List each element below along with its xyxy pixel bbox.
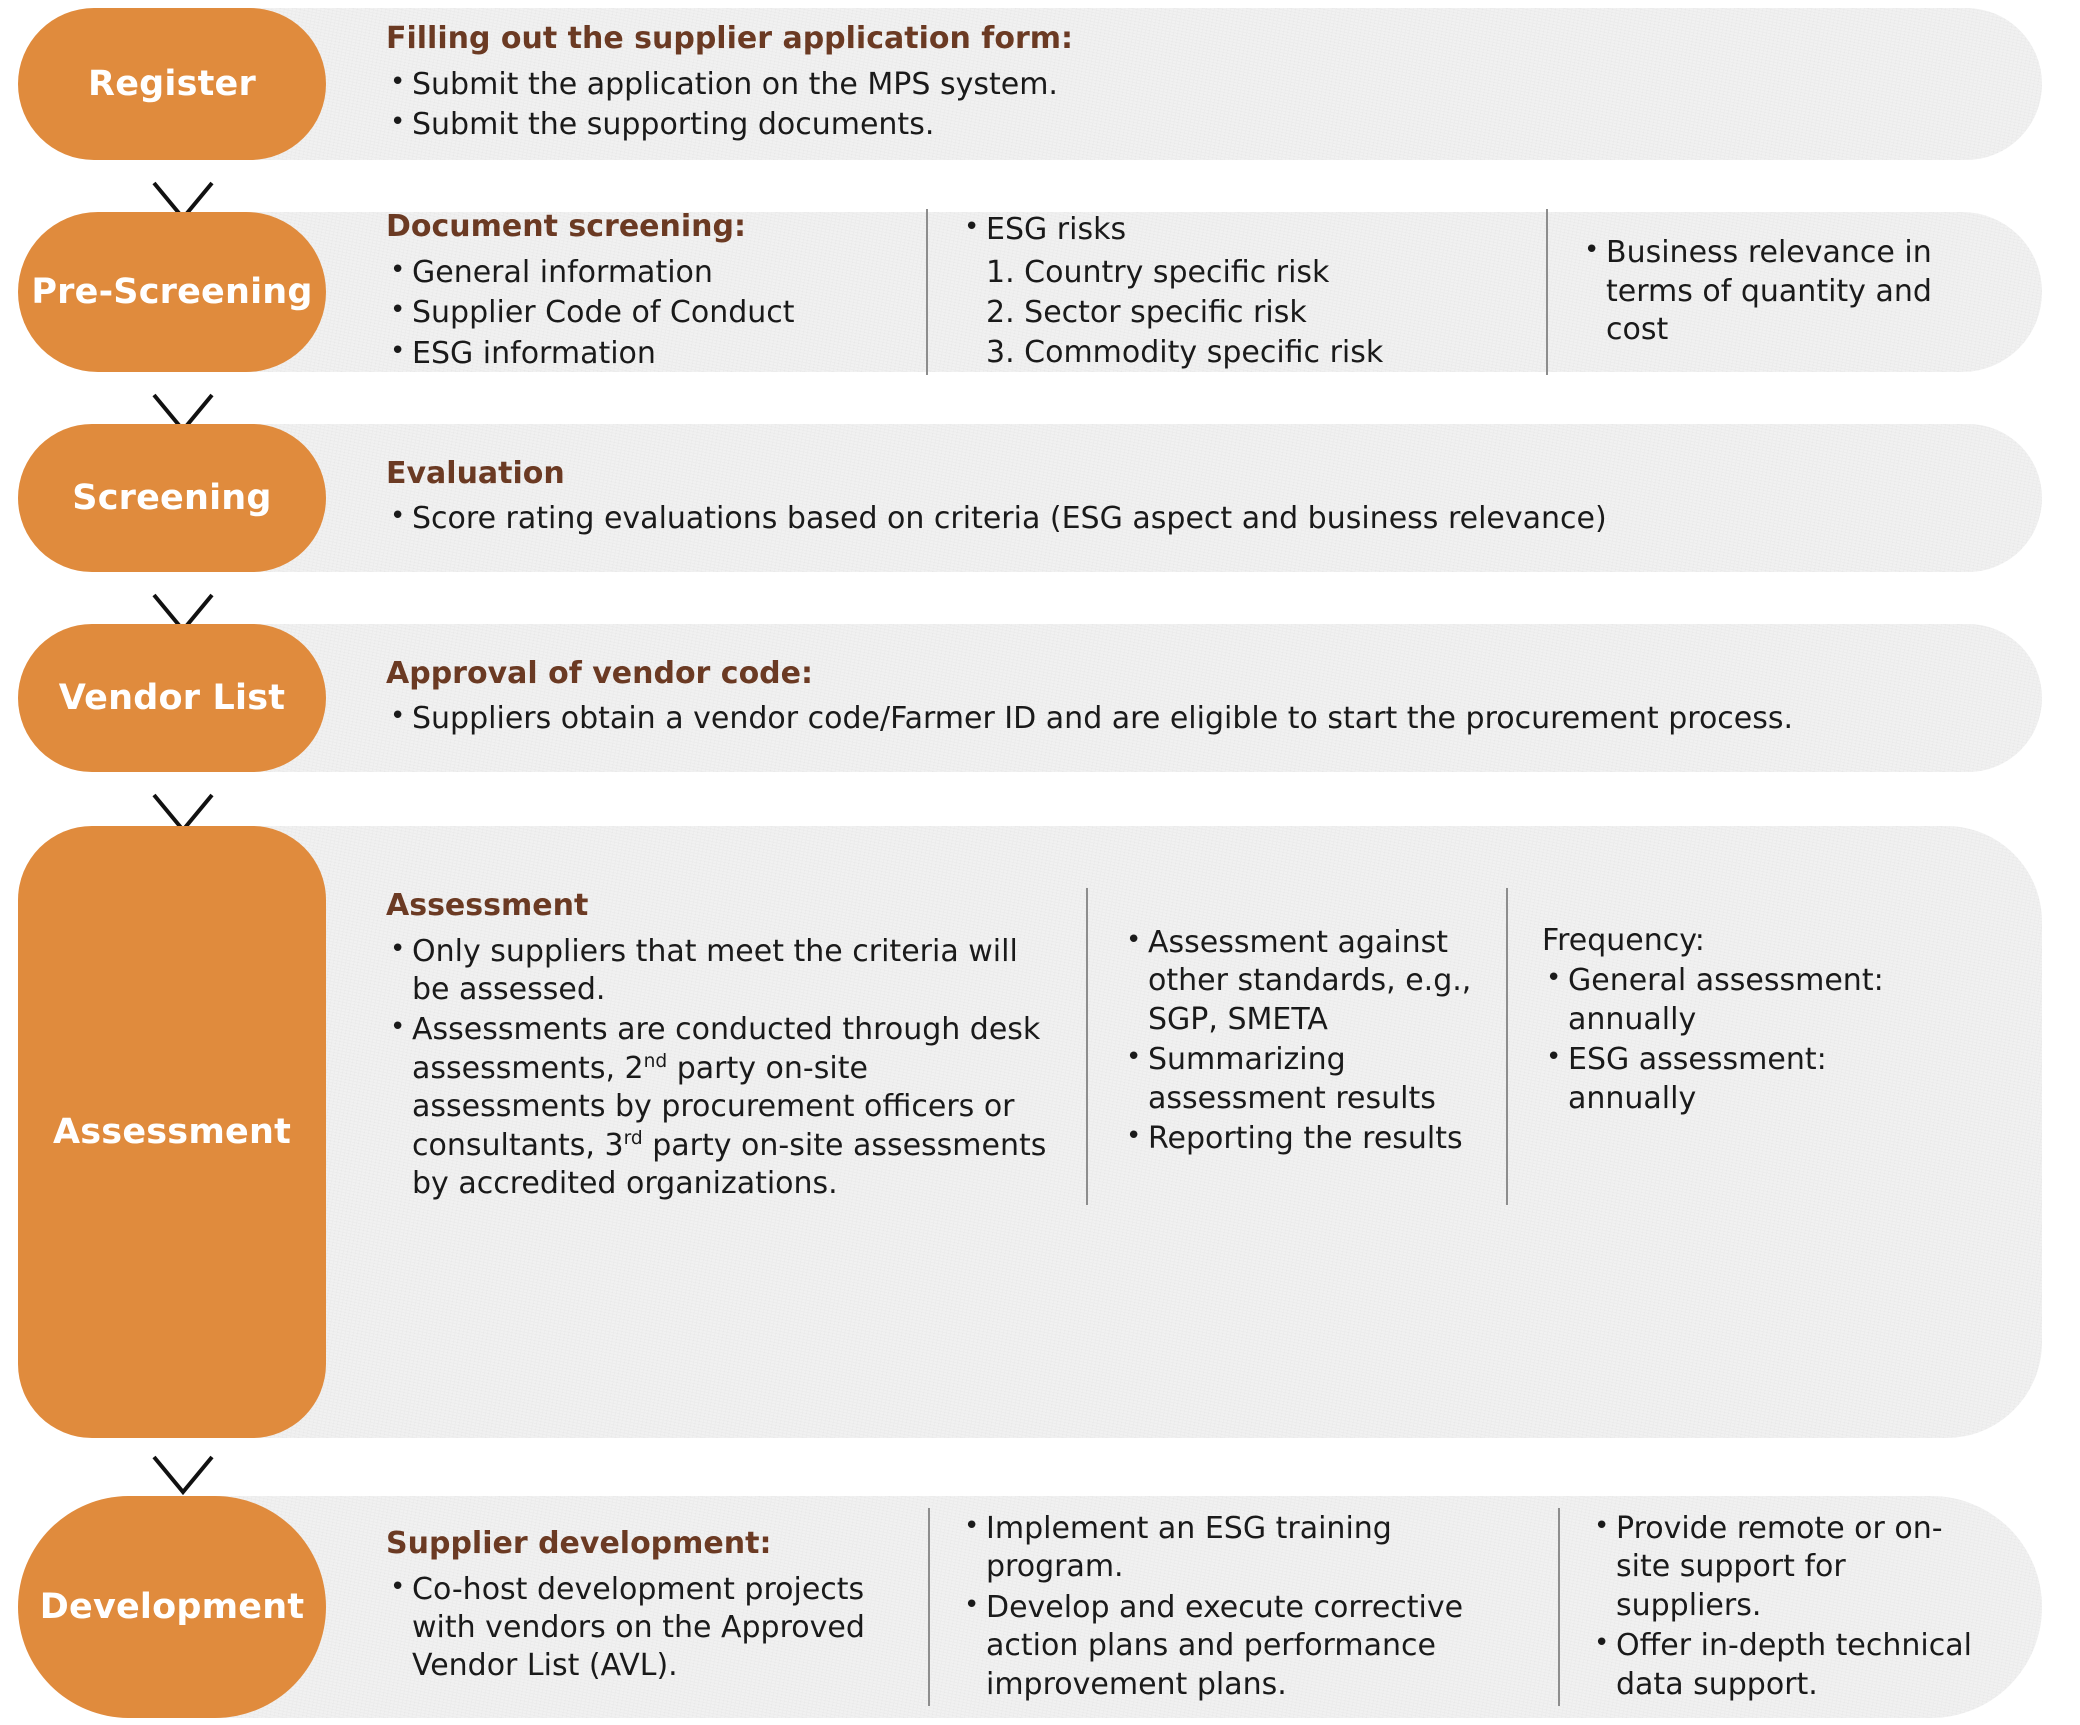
flow-step-development: Development Supplier development: Co-hos…: [0, 1496, 2080, 1718]
list-item: ESG information: [386, 335, 902, 373]
content-column: Document screening: General information …: [386, 209, 926, 375]
list-item: Provide remote or on-site support for su…: [1590, 1510, 1978, 1625]
step-pill-development[interactable]: Development: [18, 1496, 326, 1718]
bullet-list: Submit the application on the MPS system…: [386, 64, 2000, 147]
step-pill-assessment[interactable]: Assessment: [18, 826, 326, 1438]
bullet-list: Suppliers obtain a vendor code/Farmer ID…: [386, 698, 2000, 740]
list-item: Reporting the results: [1122, 1120, 1484, 1158]
step-content-development: Supplier development: Co-host developmen…: [386, 1496, 2020, 1718]
step-pill-register[interactable]: Register: [18, 8, 326, 160]
list-item: Offer in-depth technical data support.: [1590, 1627, 1978, 1704]
step-content-register: Filling out the supplier application for…: [386, 8, 2020, 160]
list-item: ESG assessment: annually: [1542, 1041, 1906, 1118]
step-pill-pre-screening[interactable]: Pre-Screening: [18, 212, 326, 372]
step-label: Register: [88, 65, 256, 104]
step-label: Vendor List: [59, 679, 285, 718]
content-column: Assessment against other standards, e.g.…: [1086, 888, 1506, 1205]
content-column: Business relevance in terms of quantity …: [1546, 209, 1986, 375]
list-item: Only suppliers that meet the criteria wi…: [386, 933, 1060, 1010]
column-heading: Approval of vendor code:: [386, 656, 2000, 693]
content-column: Assessment Only suppliers that meet the …: [386, 888, 1086, 1205]
list-item: Co-host development projects with vendor…: [386, 1571, 904, 1686]
flow-step-screening: Screening Evaluation Score rating evalua…: [0, 424, 2080, 572]
supplier-process-flow-diagram: Register Filling out the supplier applic…: [0, 0, 2080, 1725]
list-item: Develop and execute corrective action pl…: [960, 1589, 1536, 1704]
bullet-list: Assessment against other standards, e.g.…: [1122, 922, 1484, 1160]
list-item: Suppliers obtain a vendor code/Farmer ID…: [386, 700, 2000, 738]
bullet-list: General information Supplier Code of Con…: [386, 252, 902, 375]
numbered-list: 1. Country specific risk 2. Sector speci…: [960, 252, 1526, 375]
flow-step-assessment: Assessment Assessment Only suppliers tha…: [0, 826, 2080, 1438]
content-column: ESG risks 1. Country specific risk 2. Se…: [926, 209, 1546, 375]
step-content-assessment: Assessment Only suppliers that meet the …: [386, 826, 2020, 1438]
bullet-list: Implement an ESG training program. Devel…: [960, 1508, 1536, 1706]
column-heading: Document screening:: [386, 209, 902, 246]
list-item: Submit the supporting documents.: [386, 106, 2000, 144]
list-item: General information: [386, 254, 902, 292]
column-subheading: Frequency:: [1542, 922, 1906, 960]
list-item: Supplier Code of Conduct: [386, 294, 902, 332]
flow-step-pre-screening: Pre-Screening Document screening: Genera…: [0, 212, 2080, 372]
step-label: Development: [40, 1588, 305, 1627]
list-item: ESG risks: [960, 211, 1526, 249]
list-item: 1. Country specific risk: [986, 254, 1526, 292]
step-pill-vendor-list[interactable]: Vendor List: [18, 624, 326, 772]
chevron-down-icon-5: [150, 1452, 216, 1498]
flow-step-vendor-list: Vendor List Approval of vendor code: Sup…: [0, 624, 2080, 772]
list-item: 3. Commodity specific risk: [986, 334, 1526, 372]
list-item: General assessment: annually: [1542, 962, 1906, 1039]
list-item: Score rating evaluations based on criter…: [386, 500, 2000, 538]
step-content-screening: Evaluation Score rating evaluations base…: [386, 424, 2020, 572]
list-item: Submit the application on the MPS system…: [386, 66, 2000, 104]
list-item: Assessment against other standards, e.g.…: [1122, 924, 1484, 1039]
bullet-list: Only suppliers that meet the criteria wi…: [386, 931, 1060, 1206]
bullet-list: Score rating evaluations based on criter…: [386, 498, 2000, 540]
content-column: Implement an ESG training program. Devel…: [928, 1508, 1558, 1706]
step-label: Assessment: [53, 1113, 291, 1152]
list-item: Implement an ESG training program.: [960, 1510, 1536, 1587]
step-content-vendor-list: Approval of vendor code: Suppliers obtai…: [386, 624, 2020, 772]
content-column: Filling out the supplier application for…: [386, 21, 2020, 146]
content-column: Approval of vendor code: Suppliers obtai…: [386, 656, 2020, 741]
content-column: Supplier development: Co-host developmen…: [386, 1508, 928, 1706]
step-label: Pre-Screening: [31, 273, 312, 312]
content-column: Frequency: General assessment: annually …: [1506, 888, 1906, 1205]
column-heading: Assessment: [386, 888, 1060, 925]
column-heading: Supplier development:: [386, 1526, 904, 1563]
step-content-pre-screening: Document screening: General information …: [386, 212, 2020, 372]
content-column: Evaluation Score rating evaluations base…: [386, 456, 2020, 541]
list-item: Business relevance in terms of quantity …: [1580, 234, 1986, 349]
bullet-list: Business relevance in terms of quantity …: [1580, 232, 1986, 351]
list-item: 2. Sector specific risk: [986, 294, 1526, 332]
bullet-list: Provide remote or on-site support for su…: [1590, 1508, 1978, 1706]
step-pill-screening[interactable]: Screening: [18, 424, 326, 572]
column-heading: Filling out the supplier application for…: [386, 21, 2000, 58]
bullet-list: General assessment: annually ESG assessm…: [1542, 960, 1906, 1120]
content-column: Provide remote or on-site support for su…: [1558, 1508, 1978, 1706]
flow-step-register: Register Filling out the supplier applic…: [0, 8, 2080, 160]
list-item: Summarizing assessment results: [1122, 1041, 1484, 1118]
step-label: Screening: [72, 479, 271, 518]
bullet-list: Co-host development projects with vendor…: [386, 1569, 904, 1688]
list-item: Assessments are conducted through desk a…: [386, 1011, 1060, 1203]
column-heading: Evaluation: [386, 456, 2000, 493]
bullet-list: ESG risks: [960, 209, 1526, 251]
